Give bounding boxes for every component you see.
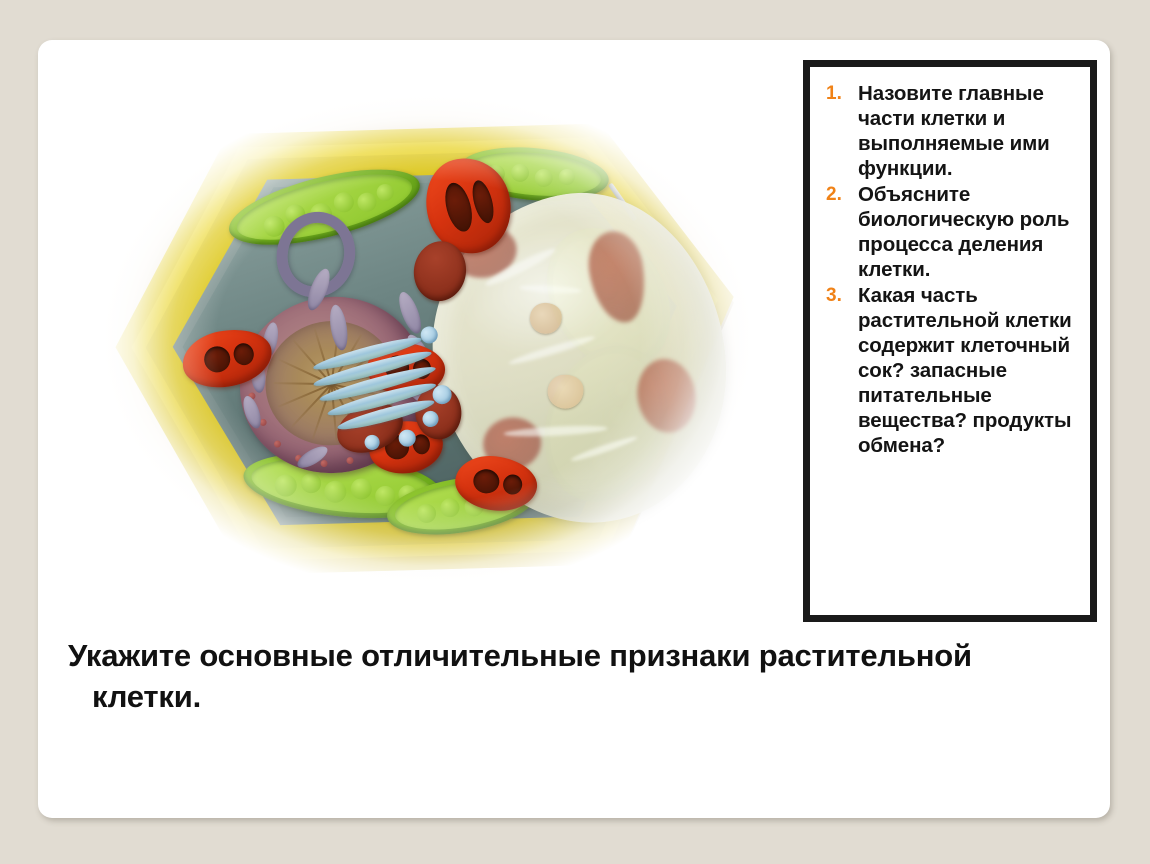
question-list: 1. Назовите главные части клетки и выпол… xyxy=(810,67,1090,458)
question-item: 1. Назовите главные части клетки и выпол… xyxy=(826,81,1082,181)
mitochondrion-crista xyxy=(202,344,232,374)
vacuole-inclusion xyxy=(632,355,701,437)
question-marker: 3. xyxy=(826,283,858,308)
question-item: 3. Какая часть растительной клетки содер… xyxy=(826,283,1082,458)
question-box: 1. Назовите главные части клетки и выпол… xyxy=(803,60,1097,622)
nuclear-pore xyxy=(320,459,328,467)
golgi-vesicle xyxy=(363,433,381,451)
starch-grain xyxy=(545,372,586,411)
mitochondrion-crista xyxy=(472,468,501,495)
mitochondrion-crista xyxy=(502,473,523,495)
slide-surface: 1. Назовите главные части клетки и выпол… xyxy=(38,40,1110,818)
vacuole-highlight xyxy=(508,333,596,367)
mitochondrion-crista xyxy=(469,178,498,225)
vacuole-inclusion xyxy=(584,227,652,326)
photo-stage xyxy=(58,62,798,632)
question-marker: 2. xyxy=(826,182,858,207)
question-item: 2. Объясните биологическую роль процесса… xyxy=(826,182,1082,282)
golgi-vesicle xyxy=(421,409,441,429)
vacuole-highlight xyxy=(570,434,638,463)
mitochondrion-crista xyxy=(232,341,256,366)
question-text: Какая часть растительной клетки содержит… xyxy=(858,283,1082,458)
question-text: Назовите главные части клетки и выполняе… xyxy=(858,81,1082,181)
question-text: Объясните биологическую роль процесса де… xyxy=(858,182,1082,282)
question-marker: 1. xyxy=(826,81,858,106)
plant-cell-model-photo xyxy=(58,62,798,632)
nuclear-pore xyxy=(273,440,281,448)
starch-grain xyxy=(528,300,564,336)
slide-title: Укажите основные отличительные признаки … xyxy=(68,635,1032,717)
mitochondrion-crista xyxy=(441,180,477,235)
cell-wall-frame xyxy=(105,108,748,590)
vacuole-highlight xyxy=(519,284,581,294)
